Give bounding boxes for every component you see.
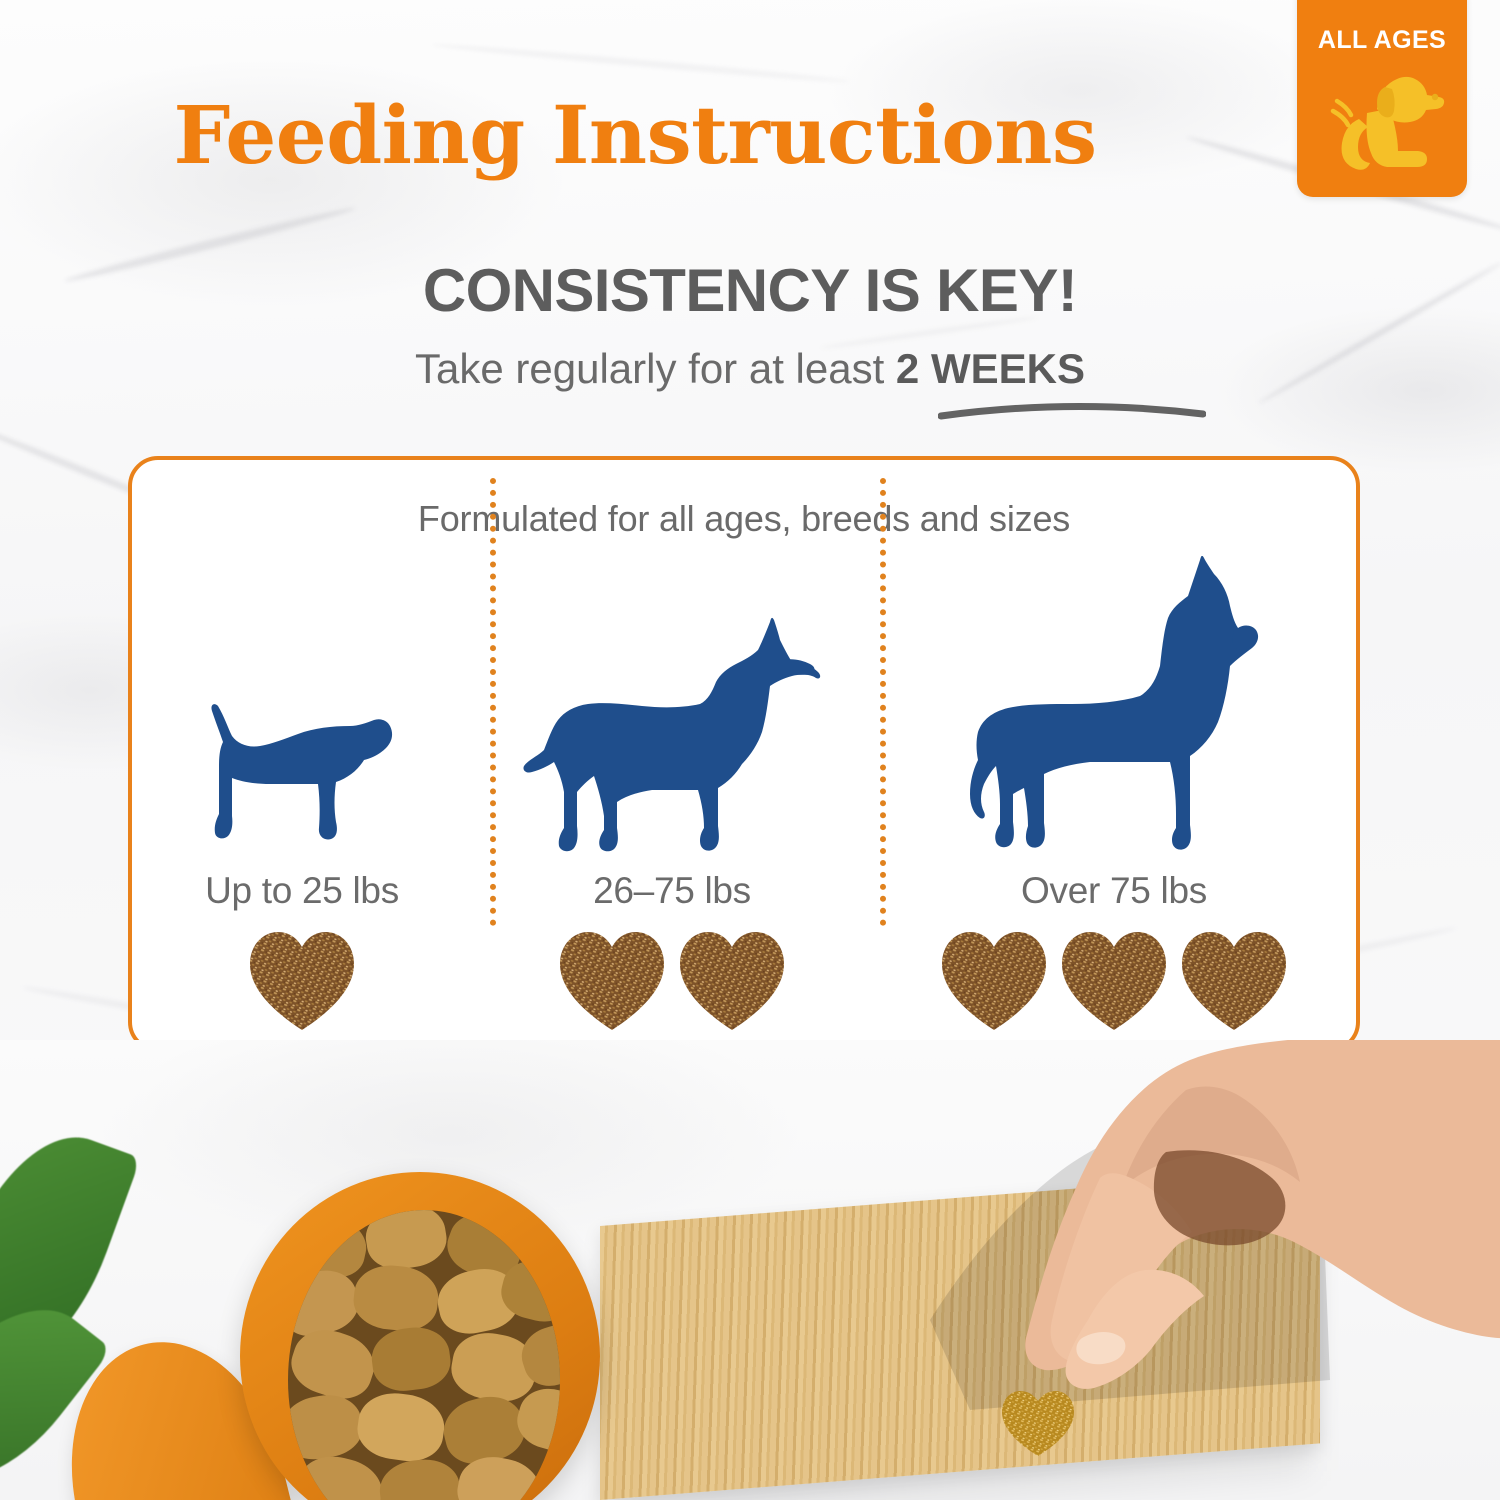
size-label-large: Over 75 lbs — [1021, 870, 1207, 912]
sitting-dog-icon — [1319, 57, 1445, 188]
tagline: Take regularly for at least 2 WEEKS — [0, 345, 1500, 393]
size-columns: Up to 25 lbs — [132, 556, 1356, 1044]
tagline-prefix: Take regularly for at least — [415, 345, 896, 392]
card-heading: Formulated for all ages, breeds and size… — [132, 460, 1356, 540]
medium-dog-silhouette-icon — [522, 556, 822, 856]
held-kibble-treat-icon — [1000, 1388, 1076, 1458]
size-column-small: Up to 25 lbs — [132, 556, 472, 1044]
heart-kibble-treat-icon — [1059, 928, 1169, 1032]
subtitle-heading: CONSISTENCY IS KEY! — [0, 256, 1500, 325]
large-dog-silhouette-icon — [964, 556, 1264, 856]
heart-kibble-treat-icon — [247, 928, 357, 1032]
heart-kibble-treat-icon — [939, 928, 1049, 1032]
size-label-small: Up to 25 lbs — [205, 870, 399, 912]
treat-count-small — [247, 928, 357, 1032]
small-dog-silhouette-icon — [190, 556, 414, 856]
tagline-emphasis: 2 WEEKS — [896, 345, 1085, 392]
heart-kibble-treat-icon — [557, 928, 667, 1032]
heart-kibble-treat-icon — [677, 928, 787, 1032]
treat-count-medium — [557, 928, 787, 1032]
product-photo — [0, 1040, 1500, 1500]
tagline-underline-stroke — [938, 398, 1206, 420]
size-label-medium: 26–75 lbs — [593, 870, 751, 912]
size-column-large: Over 75 lbs — [872, 556, 1356, 1044]
page-title: Feeding Instructions — [0, 88, 1270, 182]
bowl-interior — [288, 1210, 560, 1500]
feeding-chart-card: Formulated for all ages, breeds and size… — [128, 456, 1360, 1052]
hand-holding-treat — [890, 1040, 1500, 1490]
treat-count-large — [939, 928, 1289, 1032]
all-ages-badge-label: ALL AGES — [1318, 26, 1446, 55]
heart-kibble-treat-icon — [1179, 928, 1289, 1032]
size-column-medium: 26–75 lbs — [472, 556, 872, 1044]
all-ages-badge: ALL AGES — [1297, 0, 1467, 197]
